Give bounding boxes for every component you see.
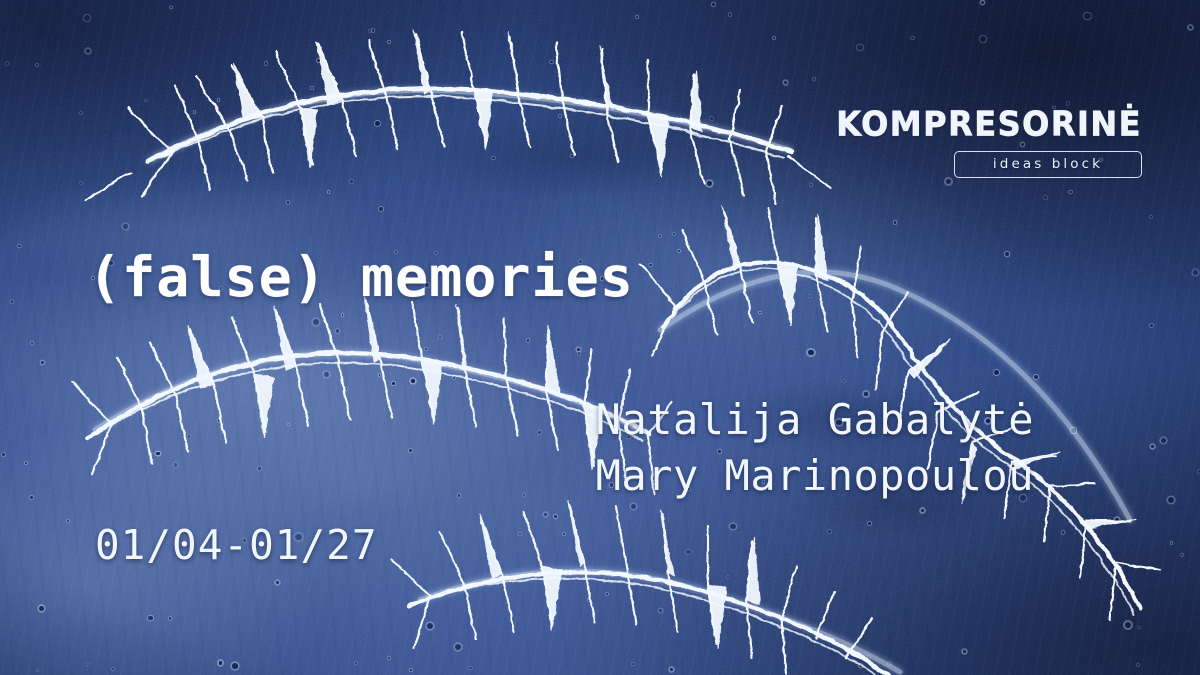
artist-name-1: Natalija Gabalytė [596, 392, 1034, 448]
logo-tagline-box: ideas block [954, 151, 1142, 178]
logo-wordmark: KOMPRESORINĖ [836, 107, 1142, 141]
text-layer: KOMPRESORINĖ ideas block (false) memorie… [0, 0, 1200, 675]
artist-list: Natalija Gabalytė Mary Marinopoulou [596, 392, 1034, 504]
artist-name-2: Mary Marinopoulou [596, 448, 1034, 504]
poster-title: (false) memories [88, 245, 634, 309]
poster-canvas: KOMPRESORINĖ ideas block (false) memorie… [0, 0, 1200, 675]
exhibition-dates: 01/04-01/27 [95, 521, 378, 569]
kompresorine-logo[interactable]: KOMPRESORINĖ ideas block [836, 108, 1142, 178]
